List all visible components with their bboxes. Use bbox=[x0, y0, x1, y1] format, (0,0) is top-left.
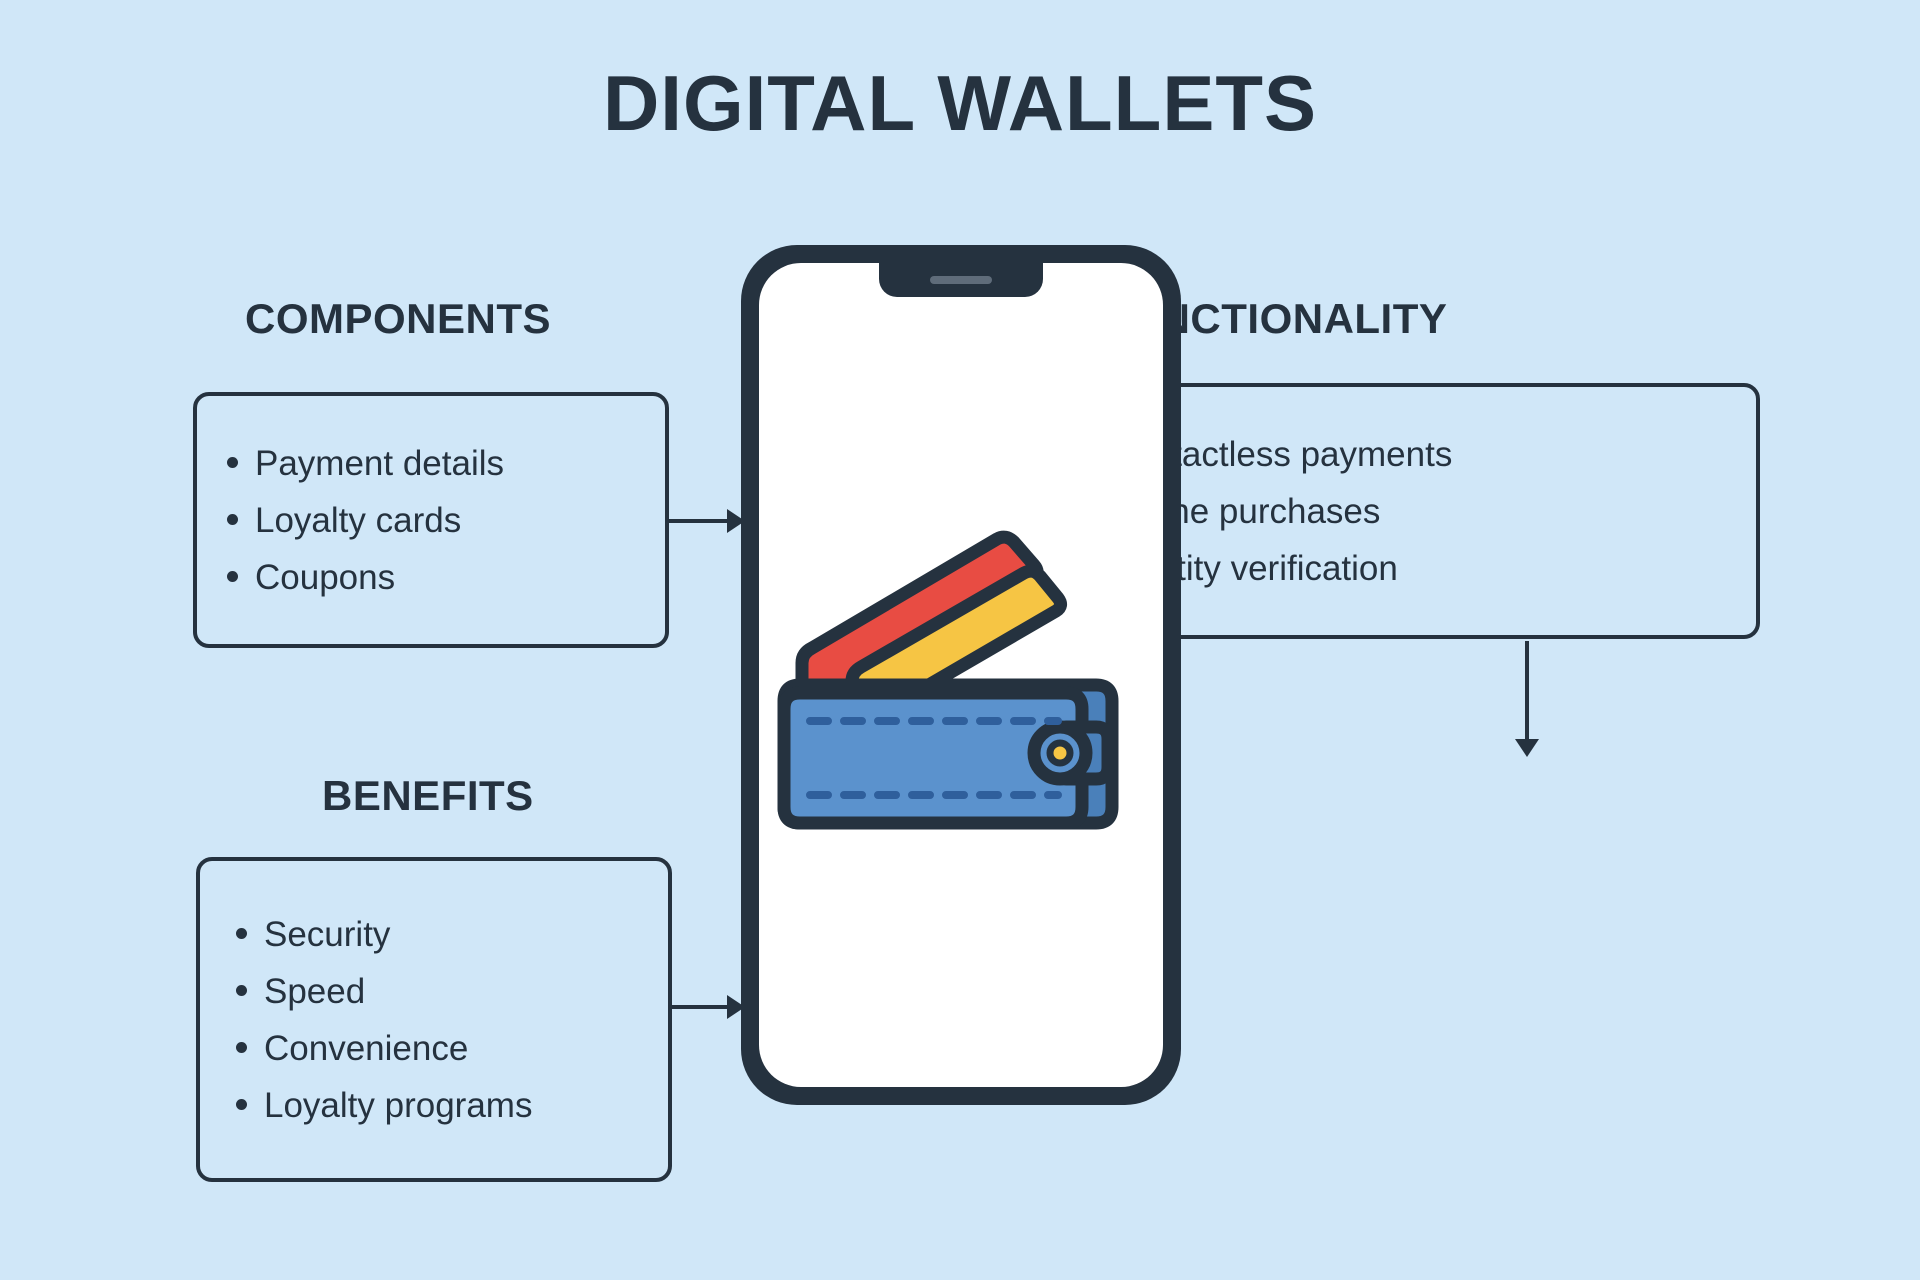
list-item: Speed bbox=[236, 963, 632, 1020]
list-item-label: Loyalty programs bbox=[264, 1088, 532, 1123]
bullet-icon bbox=[227, 457, 238, 468]
bullet-icon bbox=[236, 1099, 247, 1110]
benefits-box: Security Speed Convenience Loyalty progr… bbox=[196, 857, 672, 1182]
arrow-components-to-phone-icon bbox=[669, 504, 747, 538]
list-item-label: Speed bbox=[264, 974, 365, 1009]
arrow-head bbox=[1515, 739, 1539, 757]
components-box: Payment details Loyalty cards Coupons bbox=[193, 392, 669, 648]
wallet-icon bbox=[766, 495, 1156, 855]
arrow-shaft bbox=[669, 519, 729, 523]
section-heading-components: COMPONENTS bbox=[245, 295, 551, 343]
list-item: Security bbox=[236, 906, 632, 963]
phone-speaker-icon bbox=[930, 276, 992, 284]
list-item-label: Payment details bbox=[255, 446, 504, 481]
bullet-icon bbox=[227, 571, 238, 582]
arrow-shaft bbox=[1525, 641, 1529, 741]
bullet-icon bbox=[236, 1042, 247, 1053]
bullet-icon bbox=[227, 514, 238, 525]
benefits-list: Security Speed Convenience Loyalty progr… bbox=[236, 906, 632, 1134]
arrow-shaft bbox=[669, 1005, 729, 1009]
list-item: Loyalty programs bbox=[236, 1077, 632, 1134]
infographic-canvas: DIGITAL WALLETS COMPONENTS Payment detai… bbox=[0, 0, 1920, 1280]
smartphone-illustration bbox=[741, 245, 1181, 1105]
list-item-label: Coupons bbox=[255, 560, 395, 595]
phone-screen bbox=[759, 263, 1163, 1087]
list-item-label: Convenience bbox=[264, 1031, 468, 1066]
list-item-label: Security bbox=[264, 917, 390, 952]
components-list: Payment details Loyalty cards Coupons bbox=[227, 435, 635, 606]
phone-notch bbox=[879, 263, 1043, 297]
bullet-icon bbox=[236, 928, 247, 939]
arrow-benefits-to-phone-icon bbox=[669, 990, 747, 1024]
list-item: Payment details bbox=[227, 435, 635, 492]
list-item: Convenience bbox=[236, 1020, 632, 1077]
section-heading-benefits: BENEFITS bbox=[322, 772, 534, 820]
list-item-label: Loyalty cards bbox=[255, 503, 461, 538]
list-item: Coupons bbox=[227, 549, 635, 606]
arrow-functionality-down-icon bbox=[1510, 641, 1544, 763]
list-item: Loyalty cards bbox=[227, 492, 635, 549]
bullet-icon bbox=[236, 985, 247, 996]
page-title: DIGITAL WALLETS bbox=[0, 58, 1920, 149]
